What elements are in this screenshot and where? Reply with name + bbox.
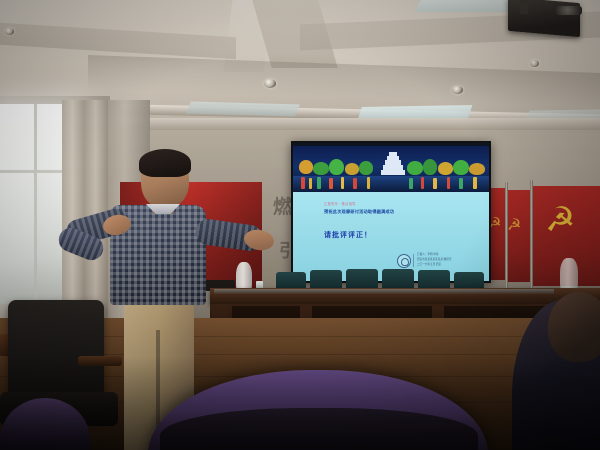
tree-light: [345, 163, 359, 175]
window-mullion: [34, 104, 37, 304]
hammer-sickle-icon: ☭: [507, 218, 521, 234]
lantern-light: [353, 178, 357, 189]
foreground-chair-purple-band: [160, 408, 478, 450]
institute-seal-icon: [397, 254, 411, 268]
lantern-light: [309, 178, 312, 189]
projector-mount: [520, 0, 528, 14]
slide-photo-pagoda: [293, 146, 489, 192]
chair-armrest: [78, 356, 122, 366]
lantern-light: [409, 178, 413, 189]
slide-signature-line3: 二〇一七年五月 西安: [417, 263, 441, 267]
lantern-light: [329, 178, 333, 189]
lantern-light: [341, 177, 344, 189]
ceiling-spotlight: [264, 79, 276, 88]
wall-upper-moulding: [95, 118, 600, 130]
ceiling-spotlight: [5, 28, 14, 35]
party-flag: [508, 190, 530, 282]
projector-lens-icon: [556, 6, 582, 15]
tree-light: [313, 162, 329, 175]
slide-signature-divider: [413, 254, 414, 267]
lantern-light: [317, 177, 321, 189]
party-flag: [489, 188, 505, 280]
tree-light: [469, 163, 485, 175]
audience-member-head: [548, 292, 600, 362]
lantern-light: [459, 178, 463, 189]
tree-light: [299, 160, 313, 174]
slide-signature-line2: 西安市某某某某某某某 教研室: [417, 258, 451, 262]
tree-light: [359, 161, 373, 175]
lantern-light: [433, 178, 437, 189]
hammer-sickle-icon: ☭: [545, 203, 575, 237]
tree-light: [329, 159, 344, 175]
slide-body: 汇报完毕 · 敬请指导 预祝此次观摩研讨活动取得圆满成功 请批评评正！ 汇报人：…: [293, 192, 489, 281]
photo-scene: 燃心 引 ☭ ☭ ☭: [0, 0, 600, 450]
tree-light: [407, 161, 423, 175]
ceiling-spotlight: [530, 60, 539, 67]
lantern-light: [421, 177, 424, 189]
speaker-hair: [139, 149, 191, 177]
lantern-light: [447, 177, 450, 189]
table-glass-top: [214, 289, 554, 294]
lantern-light: [367, 177, 370, 189]
tree-light: [438, 162, 453, 175]
slide-subtitle: 汇报完毕 · 敬请指导: [324, 201, 356, 206]
lantern-light: [301, 177, 305, 189]
tree-light: [453, 160, 469, 175]
slide-signature-line1: 汇报人：李明 单位: [417, 253, 438, 257]
screen-surface: 汇报完毕 · 敬请指导 预祝此次观摩研讨活动取得圆满成功 请批评评正！ 汇报人：…: [293, 143, 489, 281]
ceiling-panel-light: [415, 0, 516, 12]
tree-light: [423, 159, 437, 175]
slide-main-text: 请批评评正！: [324, 230, 372, 240]
projection-screen: 汇报完毕 · 敬请指导 预祝此次观摩研讨活动取得圆满成功 请批评评正！ 汇报人：…: [291, 141, 491, 283]
pagoda-icon: [381, 170, 405, 175]
ceiling-spotlight: [452, 86, 463, 94]
lantern-light: [473, 177, 477, 189]
slide-headline: 预祝此次观摩研讨活动取得圆满成功: [324, 209, 394, 215]
